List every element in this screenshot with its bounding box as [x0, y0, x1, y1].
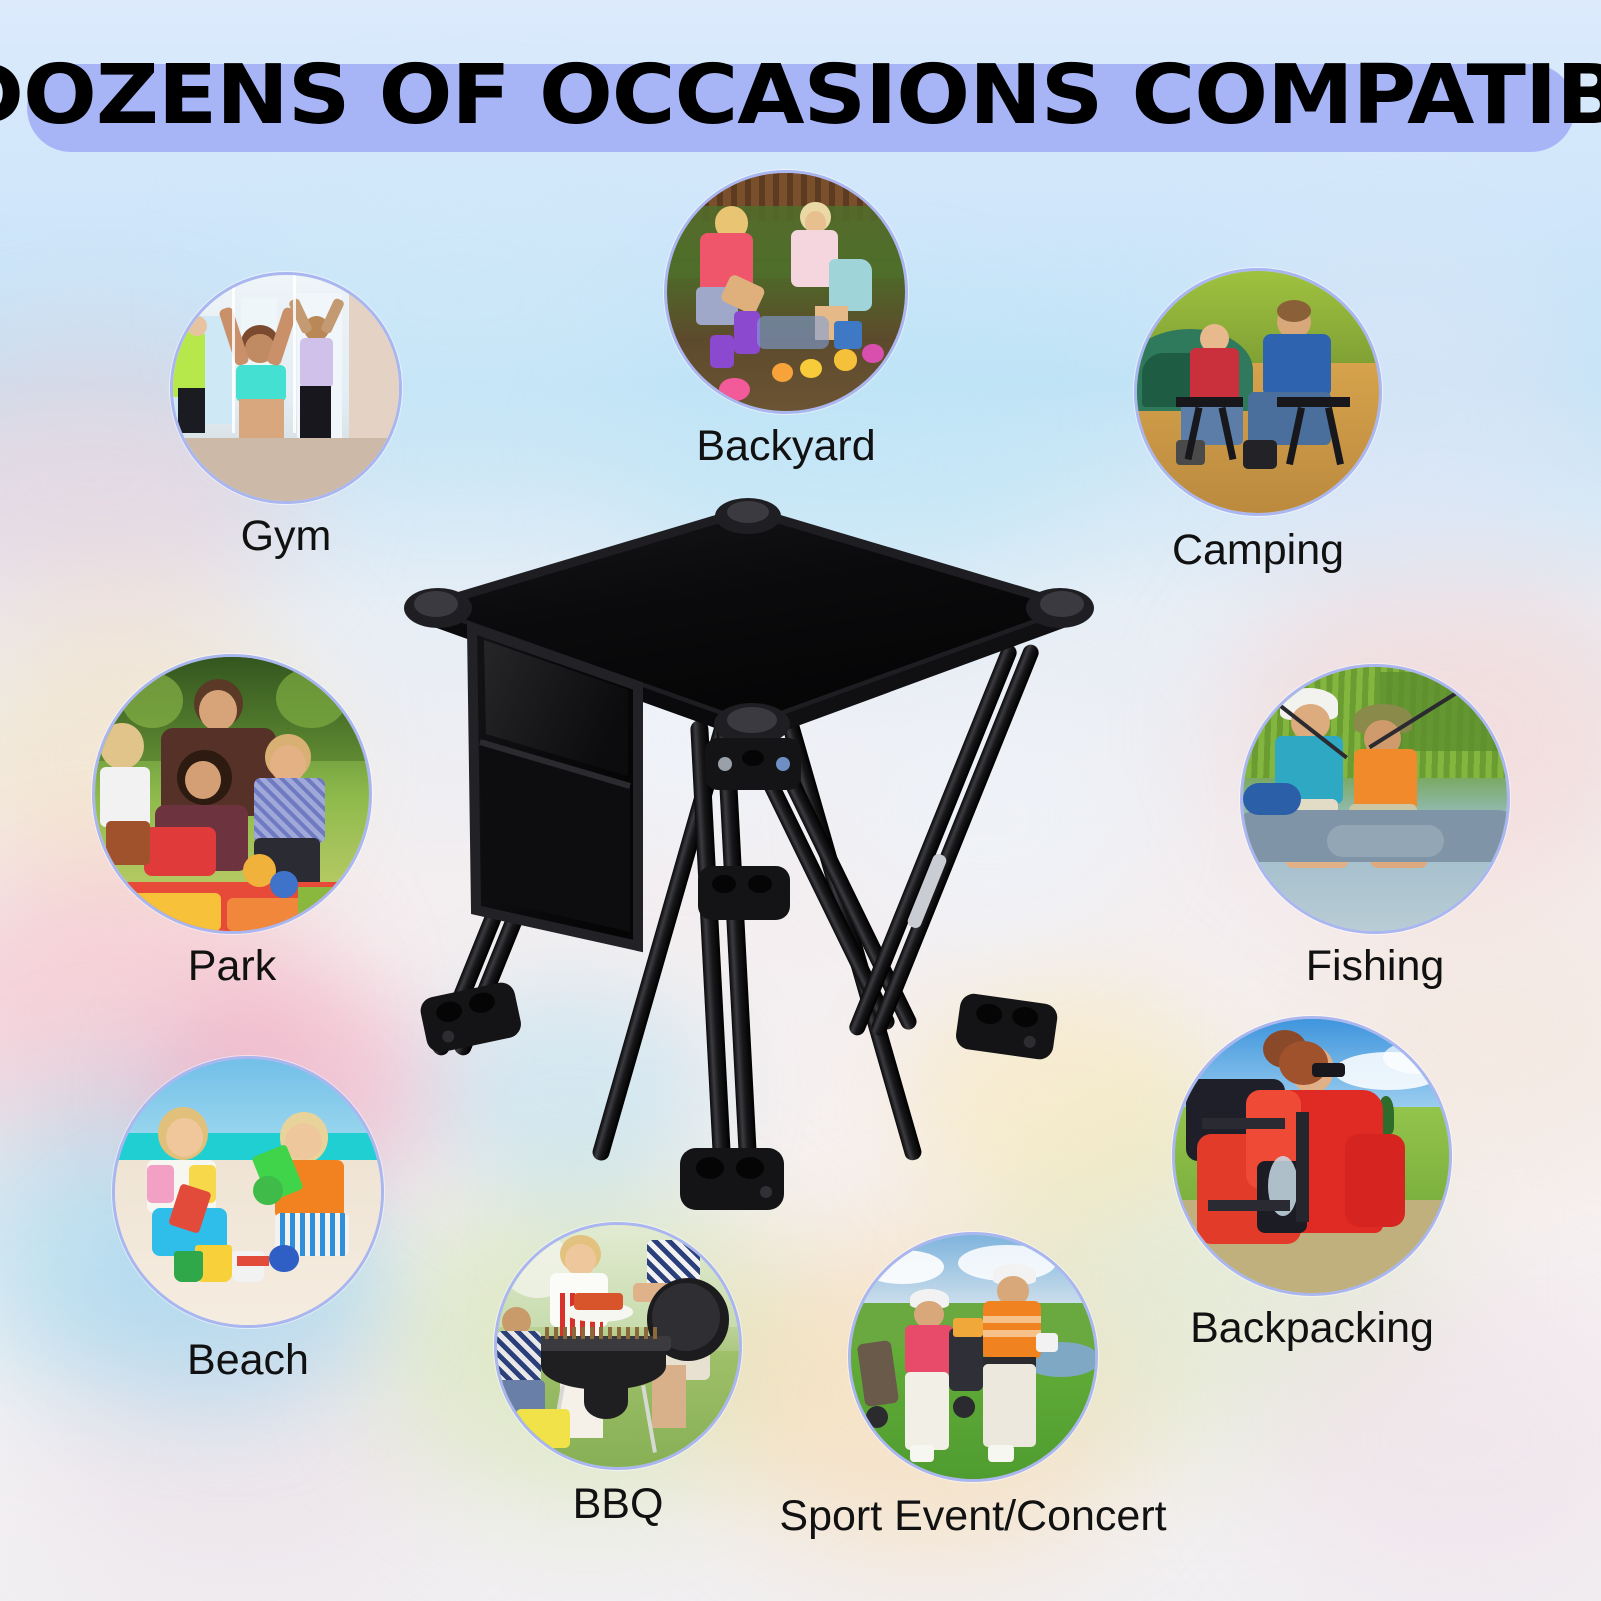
stool-side-pocket — [472, 628, 638, 946]
occasion-backpacking-label: Backpacking — [1190, 1304, 1434, 1352]
camping-photo — [1137, 271, 1379, 513]
occasion-beach-label: Beach — [187, 1336, 309, 1384]
page-title-banner: DOZENS OF OCCASIONS COMPATIBLE — [0, 28, 1601, 158]
occasion-backyard-label: Backyard — [696, 422, 875, 470]
occasion-bbq[interactable]: BBQ — [494, 1222, 742, 1552]
page-title: DOZENS OF OCCASIONS COMPATIBLE — [0, 50, 1601, 142]
occasion-backyard[interactable]: Backyard — [664, 170, 908, 480]
occasion-park-label: Park — [188, 942, 276, 990]
occasion-camping-label: Camping — [1172, 526, 1344, 574]
bbq-photo — [497, 1225, 739, 1467]
sport-event-photo — [851, 1235, 1095, 1479]
fishing-photo — [1243, 667, 1507, 931]
beach-photo — [115, 1059, 381, 1325]
occasion-park[interactable]: Park — [92, 654, 372, 994]
infographic-canvas: DOZENS OF OCCASIONS COMPATIBLE — [0, 0, 1601, 1601]
occasion-camping[interactable]: Camping — [1134, 268, 1382, 578]
occasion-fishing-label: Fishing — [1306, 942, 1445, 990]
occasion-backpacking[interactable]: Backpacking — [1172, 1016, 1452, 1356]
backyard-photo — [667, 173, 905, 411]
occasion-bbq-label: BBQ — [573, 1480, 664, 1528]
product-folding-stool — [380, 480, 1110, 1240]
occasion-gym[interactable]: Gym — [170, 272, 402, 572]
park-photo — [95, 657, 369, 931]
occasion-sport-event[interactable]: Sport Event/Concert — [848, 1232, 1098, 1562]
stool-illustration — [380, 480, 1110, 1240]
occasion-gym-label: Gym — [241, 512, 332, 560]
occasion-sport-event-label: Sport Event/Concert — [779, 1492, 1166, 1540]
backpacking-photo — [1175, 1019, 1449, 1293]
gym-photo — [173, 275, 399, 501]
occasion-fishing[interactable]: Fishing — [1240, 664, 1510, 994]
occasion-beach[interactable]: Beach — [112, 1056, 384, 1386]
